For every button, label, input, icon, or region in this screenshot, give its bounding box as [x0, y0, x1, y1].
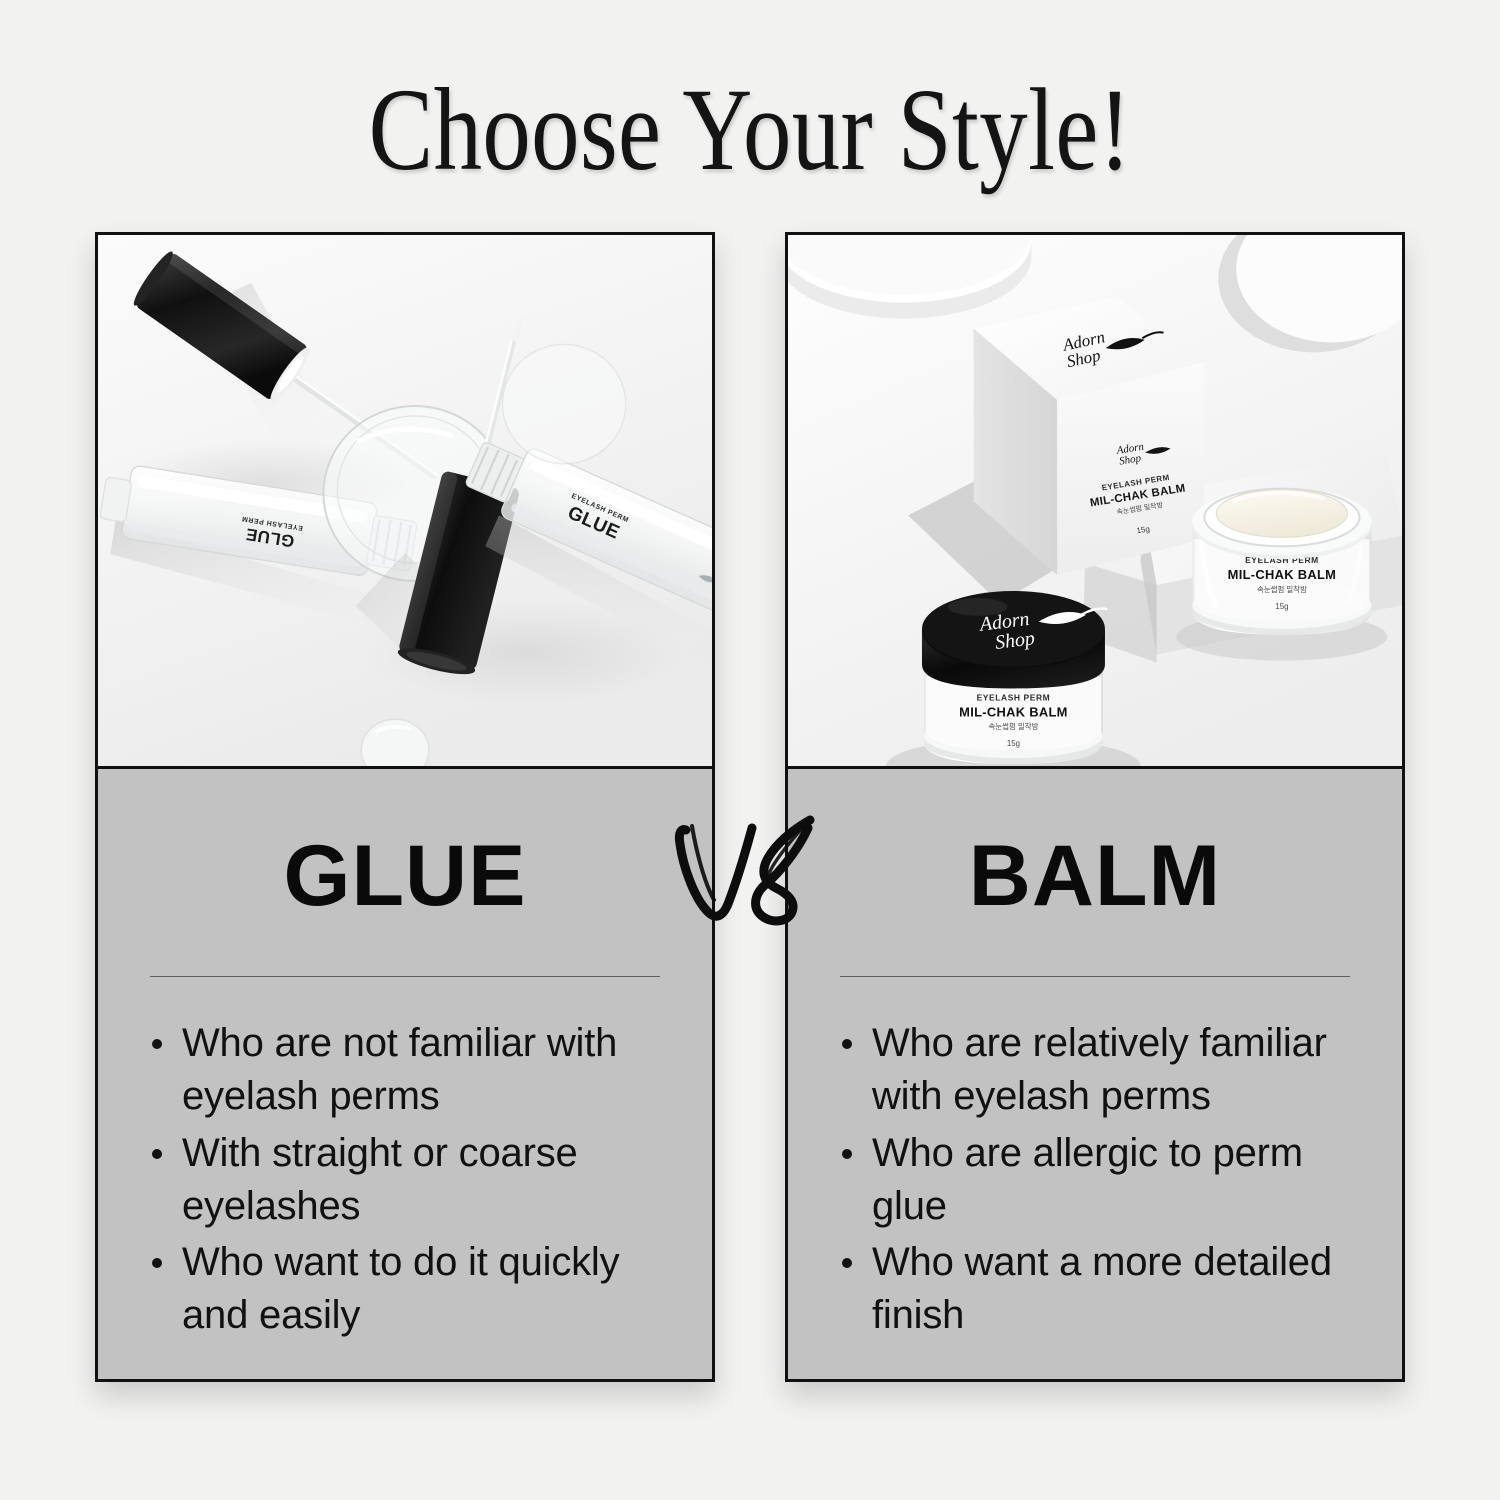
svg-text:15g: 15g	[1007, 739, 1020, 748]
list-item: Who are not familiar with eyelash perms	[144, 1017, 666, 1123]
column-heading-glue: GLUE	[144, 831, 666, 921]
comparison-columns: GLUE EYELASH PERM	[95, 232, 1405, 1382]
comparison-column-glue[interactable]: GLUE EYELASH PERM	[95, 232, 715, 1382]
svg-text:MIL-CHAK BALM: MIL-CHAK BALM	[1228, 567, 1337, 582]
list-item: With straight or coarse eyelashes	[144, 1127, 666, 1233]
column-heading-balm: BALM	[834, 831, 1356, 921]
heading-divider	[840, 976, 1350, 977]
balm-bullet-list: Who are relatively familiar with eyelash…	[834, 1017, 1356, 1346]
list-item: Who are allergic to perm glue	[834, 1127, 1356, 1233]
svg-text:속눈썹펌 밀착밤: 속눈썹펌 밀착밤	[988, 721, 1038, 731]
heading-divider	[150, 976, 660, 977]
infographic-page: Choose Your Style!	[0, 0, 1500, 1500]
balm-info: BALM Who are relatively familiar with ey…	[788, 769, 1402, 1379]
svg-text:속눈썹펌 밀착밤: 속눈썹펌 밀착밤	[1257, 584, 1307, 594]
balm-product-photo: Adorn Shop Adorn Shop EYELASH PERM MIL-C…	[788, 235, 1402, 769]
glue-bullet-list: Who are not familiar with eyelash perms …	[144, 1017, 666, 1346]
page-title: Choose Your Style!	[135, 62, 1365, 198]
comparison-column-balm[interactable]: Adorn Shop Adorn Shop EYELASH PERM MIL-C…	[785, 232, 1405, 1382]
svg-text:15g: 15g	[1275, 602, 1288, 611]
svg-text:MIL-CHAK BALM: MIL-CHAK BALM	[959, 704, 1068, 719]
svg-text:EYELASH PERM: EYELASH PERM	[977, 692, 1051, 702]
list-item: Who are relatively familiar with eyelash…	[834, 1017, 1356, 1123]
glue-product-photo: GLUE EYELASH PERM	[98, 235, 712, 769]
list-item: Who want to do it quickly and easily	[144, 1236, 666, 1342]
glue-info: GLUE Who are not familiar with eyelash p…	[98, 769, 712, 1379]
list-item: Who want a more detailed finish	[834, 1236, 1356, 1342]
